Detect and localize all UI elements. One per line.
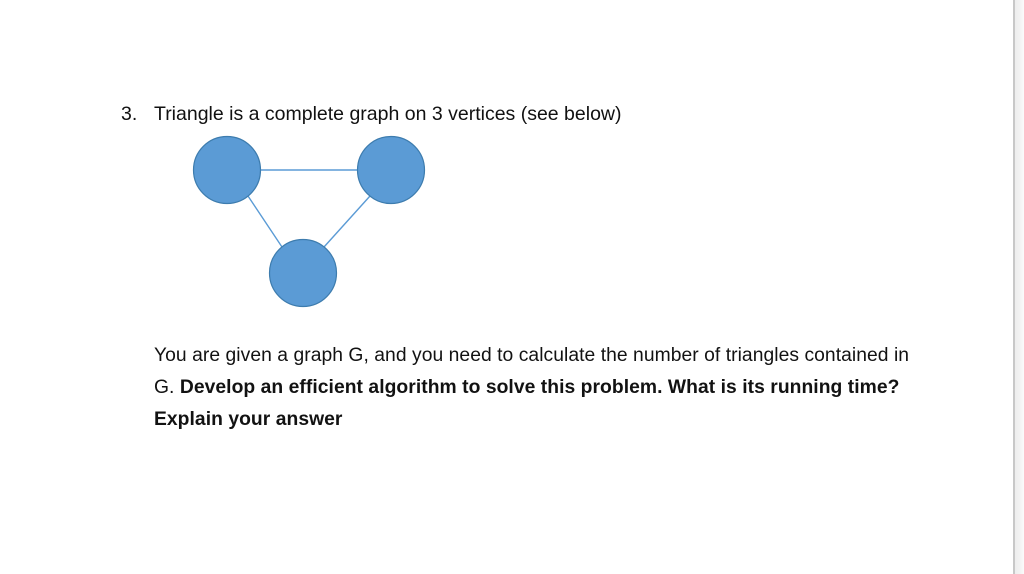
edge-right bbox=[324, 196, 370, 247]
vertex-top-right bbox=[358, 137, 425, 204]
triangle-graph-svg bbox=[180, 128, 440, 318]
problem-statement: You are given a graph G, and you need to… bbox=[154, 340, 914, 435]
question-3-block: 3. Triangle is a complete graph on 3 ver… bbox=[0, 0, 1014, 574]
page-right-gutter bbox=[1015, 0, 1024, 574]
document-page: 3. Triangle is a complete graph on 3 ver… bbox=[0, 0, 1014, 574]
question-heading: Triangle is a complete graph on 3 vertic… bbox=[154, 101, 622, 127]
edge-left bbox=[248, 196, 282, 247]
vertex-top-left bbox=[194, 137, 261, 204]
triangle-graph-figure bbox=[180, 128, 440, 318]
vertex-bottom bbox=[270, 240, 337, 307]
question-number: 3. bbox=[121, 101, 137, 127]
problem-statement-bold-text: Develop an efficient algorithm to solve … bbox=[154, 377, 899, 430]
